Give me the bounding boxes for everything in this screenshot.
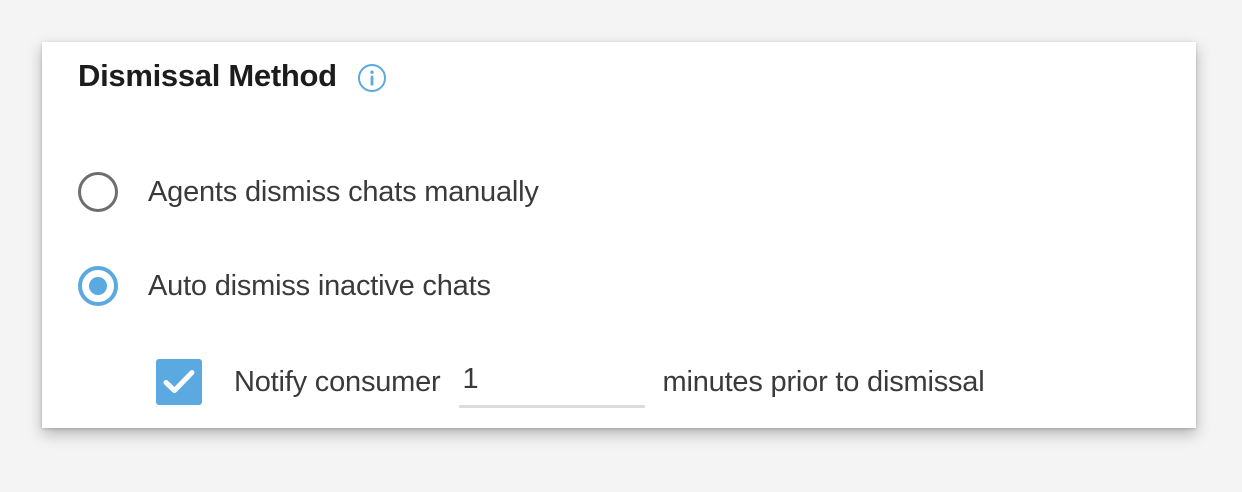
notify-consumer-row: Notify consumer minutes prior to dismiss…: [156, 356, 984, 408]
radio-option-manual[interactable]: Agents dismiss chats manually: [78, 172, 539, 212]
page-root: Dismissal Method Agents dismiss chats ma…: [0, 0, 1242, 492]
page-title: Dismissal Method: [78, 58, 337, 94]
notify-consumer-label: Notify consumer: [234, 366, 441, 399]
radio-button-selected-icon[interactable]: [78, 266, 118, 306]
radio-option-auto[interactable]: Auto dismiss inactive chats: [78, 266, 491, 306]
notify-consumer-checkbox[interactable]: [156, 359, 202, 405]
checkmark-icon: [163, 368, 195, 396]
notify-minutes-input[interactable]: [459, 356, 645, 408]
radio-option-auto-label: Auto dismiss inactive chats: [148, 270, 491, 303]
dismissal-method-card: Dismissal Method Agents dismiss chats ma…: [42, 42, 1196, 428]
card-header: Dismissal Method: [78, 58, 387, 94]
info-circle-icon[interactable]: [357, 59, 387, 93]
notify-minutes-trailing-label: minutes prior to dismissal: [663, 366, 985, 399]
radio-button-unselected-icon[interactable]: [78, 172, 118, 212]
radio-option-manual-label: Agents dismiss chats manually: [148, 176, 539, 209]
